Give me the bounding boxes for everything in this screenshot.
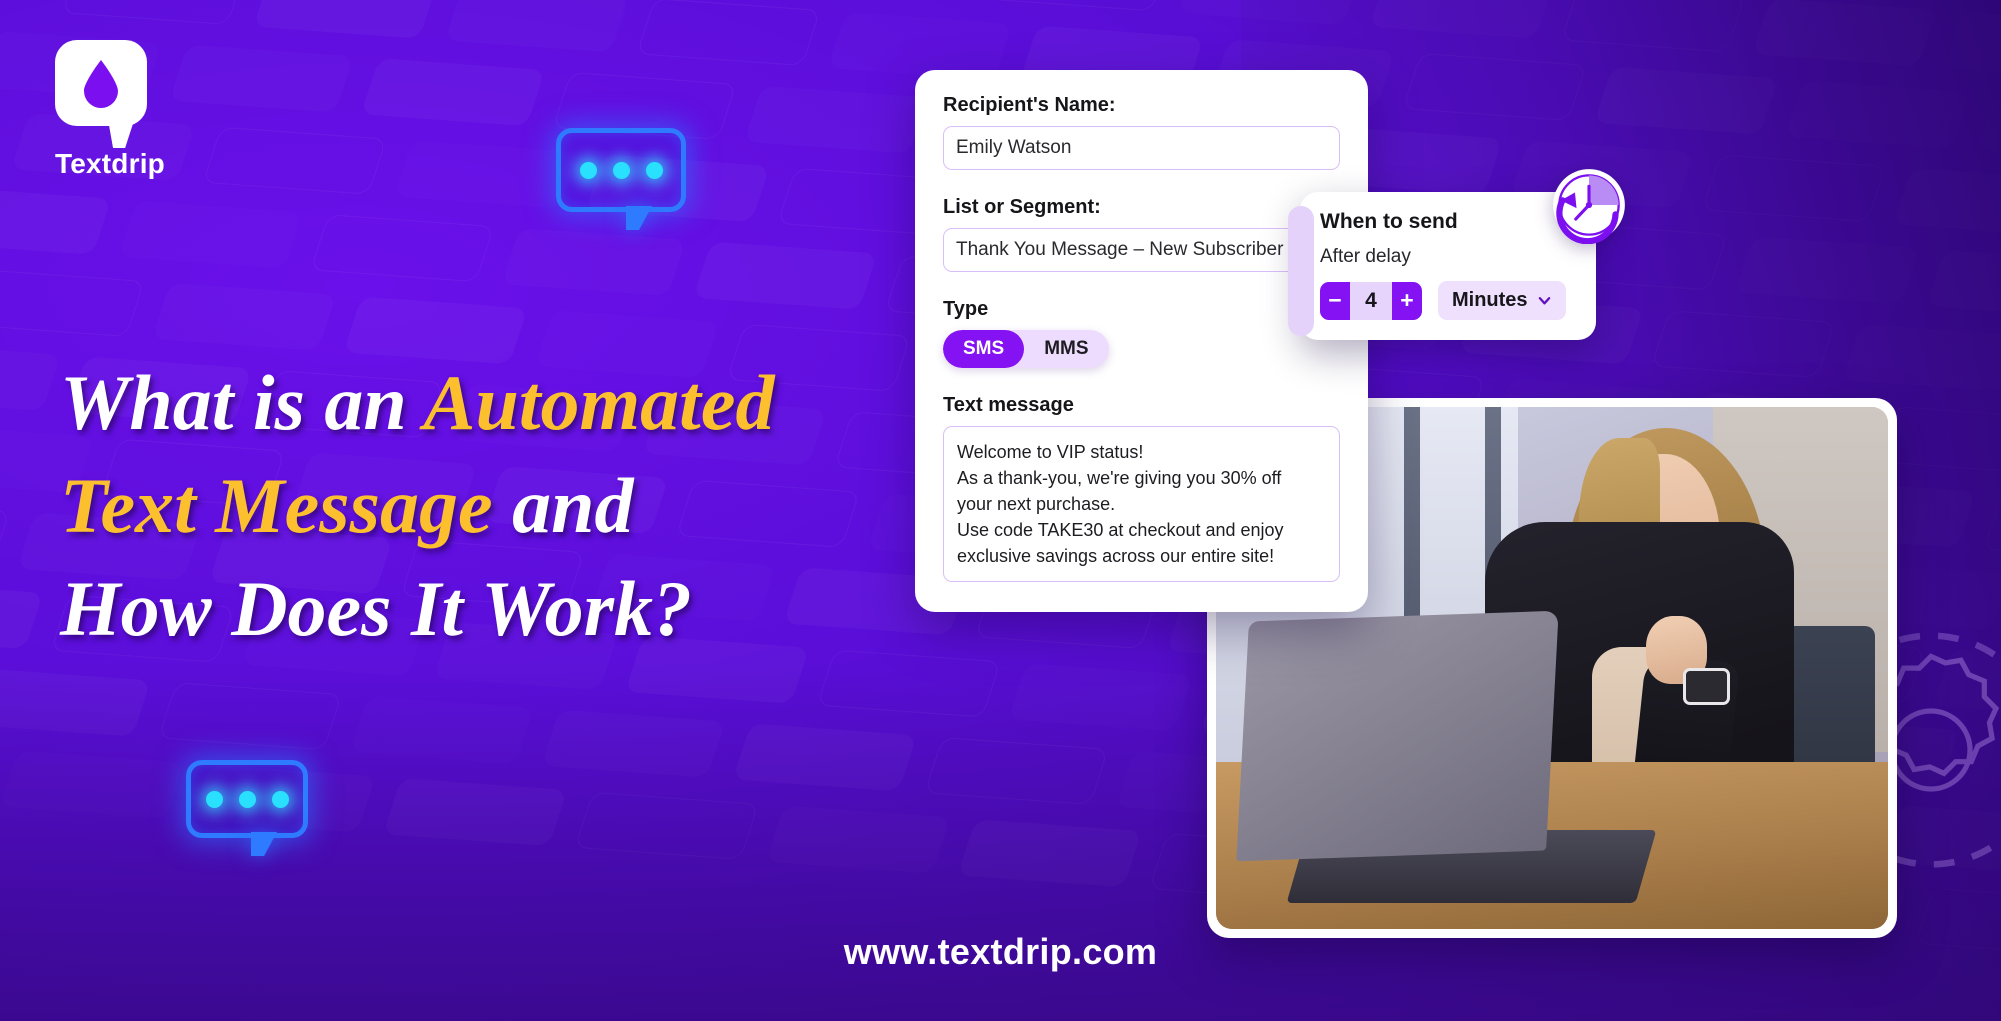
headline-line2-plain: and <box>493 462 634 549</box>
delay-decrement-button[interactable]: − <box>1320 282 1350 320</box>
headline-line2-highlight: Text Message <box>60 462 493 549</box>
delay-increment-button[interactable]: + <box>1392 282 1422 320</box>
chevron-down-icon <box>1537 293 1552 308</box>
type-option-sms[interactable]: SMS <box>943 330 1024 368</box>
message-line: As a thank-you, we're giving you 30% off <box>957 465 1326 491</box>
delay-unit-value: Minutes <box>1452 289 1528 312</box>
clock-refresh-icon <box>1550 166 1628 244</box>
after-delay-label: After delay <box>1320 246 1576 268</box>
headline-line3: How Does It Work? <box>60 565 692 652</box>
when-to-send-card: When to send After delay − 4 + Minutes <box>1300 192 1596 340</box>
brand-logo[interactable]: Textdrip <box>55 40 235 180</box>
page-title: What is an Automated Text Message and Ho… <box>60 352 920 661</box>
text-message-label: Text message <box>943 394 1340 417</box>
delay-stepper: − 4 + <box>1320 282 1422 320</box>
headline-line1-plain: What is an <box>60 359 423 446</box>
chat-bubble-dots-icon-top <box>556 128 686 212</box>
message-line: Welcome to VIP status! <box>957 439 1326 465</box>
message-composer-card: Recipient's Name: Emily Watson List or S… <box>915 70 1368 612</box>
hero-banner: Textdrip What is an Automated Text Messa… <box>0 0 2001 1021</box>
text-message-textarea[interactable]: Welcome to VIP status! As a thank-you, w… <box>943 426 1340 582</box>
message-line: your next purchase. <box>957 491 1326 517</box>
recipient-name-label: Recipient's Name: <box>943 94 1340 117</box>
headline-line1-highlight: Automated <box>423 359 774 446</box>
site-url[interactable]: www.textdrip.com <box>0 931 2001 973</box>
type-toggle-group: SMS MMS <box>943 330 1109 368</box>
message-line: exclusive savings across our entire site… <box>957 543 1326 569</box>
when-to-send-title: When to send <box>1320 210 1576 234</box>
type-option-mms[interactable]: MMS <box>1024 330 1108 368</box>
message-line: Use code TAKE30 at checkout and enjoy <box>957 517 1326 543</box>
droplet-icon <box>81 58 121 108</box>
type-label: Type <box>943 298 1340 321</box>
delay-value[interactable]: 4 <box>1350 289 1392 313</box>
logo-speech-bubble-icon <box>55 40 147 126</box>
list-segment-input[interactable]: Thank You Message – New Subscriber <box>943 228 1340 272</box>
brand-name: Textdrip <box>55 148 235 180</box>
chat-bubble-dots-icon-bottom <box>186 760 308 838</box>
list-segment-label: List or Segment: <box>943 196 1340 219</box>
delay-unit-select[interactable]: Minutes <box>1438 281 1566 320</box>
recipient-name-input[interactable]: Emily Watson <box>943 126 1340 170</box>
